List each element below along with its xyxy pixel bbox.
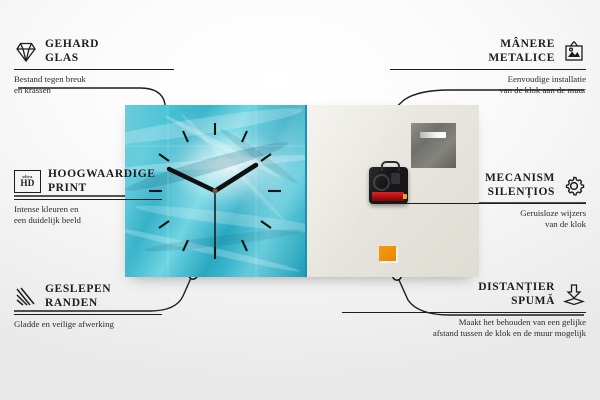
feature-distantier-spuma: DISTANȚIER SPUMĂ Maakt het behouden van … (342, 281, 586, 340)
feature-divider (14, 199, 162, 200)
feature-title-line2: METALICE (488, 52, 555, 66)
ultra-hd-large-text: HD (20, 179, 34, 188)
feature-divider (342, 312, 586, 313)
feature-title-line2: GLAS (45, 52, 99, 66)
feature-divider (390, 69, 586, 70)
tick-10 (159, 154, 169, 161)
feature-subtitle-line2: van de klok aan de muur (390, 85, 586, 97)
hanger-slot (420, 132, 446, 138)
feature-subtitle-line1: Bestand tegen breuk (14, 74, 210, 86)
feature-manere-metalice: MÂNERE METALICE Eenvoudige installatie v… (390, 38, 586, 97)
clock-hand-hour (215, 165, 256, 191)
ultra-hd-icon: ultra HD (14, 170, 41, 193)
feature-subtitle-line2: een duidelijk beeld (14, 215, 210, 227)
feature-subtitle-line1: Gladde en veilige afwerking (14, 319, 210, 331)
feature-divider (14, 314, 162, 315)
feature-geslepen-randen: GESLEPEN RANDEN Gladde en veilige afwerk… (14, 283, 210, 330)
mechanism-dial (373, 174, 390, 191)
feature-title-line2: PRINT (48, 182, 156, 196)
diagonal-lines-icon (14, 285, 38, 309)
feature-title-line1: HOOGWAARDIGE (48, 168, 156, 182)
hanging-picture-icon (562, 40, 586, 64)
feature-hoogwaardige-print: ultra HD HOOGWAARDIGE PRINT Intense kleu… (14, 168, 210, 227)
feature-title-line1: MÂNERE (488, 38, 555, 52)
clock-center-pin (212, 188, 217, 193)
tick-5 (242, 240, 247, 251)
tick-11 (183, 131, 188, 142)
feature-subtitle-line1: Intense kleuren en (14, 204, 210, 216)
feature-title-line1: GESLEPEN (45, 283, 111, 297)
feature-gehard-glas: GEHARD GLAS Bestand tegen breuk en krass… (14, 38, 210, 97)
feature-divider (390, 203, 586, 204)
diamond-icon (14, 40, 38, 64)
feature-subtitle-line2: afstand tussen de klok en de muur mogeli… (342, 328, 586, 340)
feature-title-line2: SILENȚIOS (485, 186, 555, 200)
tick-1 (242, 131, 247, 142)
feature-divider (14, 69, 174, 70)
spacer-arrow-icon (562, 283, 586, 307)
feature-subtitle-line1: Maakt het behouden van een gelijke (342, 317, 586, 329)
metal-hanger-plate (411, 123, 456, 168)
feature-subtitle-line1: Geruisloze wijzers (390, 208, 586, 220)
feature-mecanism-silentios: MECANISM SILENȚIOS Geruisloze wijzers va… (390, 172, 586, 231)
tick-4 (261, 221, 271, 228)
feature-title-line1: GEHARD (45, 38, 99, 52)
feature-subtitle-line2: van de klok (390, 219, 586, 231)
feature-title-line2: RANDEN (45, 297, 111, 311)
feature-title-line1: MECANISM (485, 172, 555, 186)
gear-icon (562, 174, 586, 198)
tick-2 (261, 154, 271, 161)
tick-7 (183, 240, 188, 251)
feature-title-line2: SPUMĂ (478, 295, 555, 309)
feature-subtitle-line2: en krassen (14, 85, 210, 97)
foam-spacer (379, 246, 396, 261)
hanger-loop-icon (381, 161, 400, 171)
feature-subtitle-line1: Eenvoudige installatie (390, 74, 586, 86)
infographic-canvas: GEHARD GLAS Bestand tegen breuk en krass… (0, 0, 600, 400)
feature-title-line1: DISTANȚIER (478, 281, 555, 295)
